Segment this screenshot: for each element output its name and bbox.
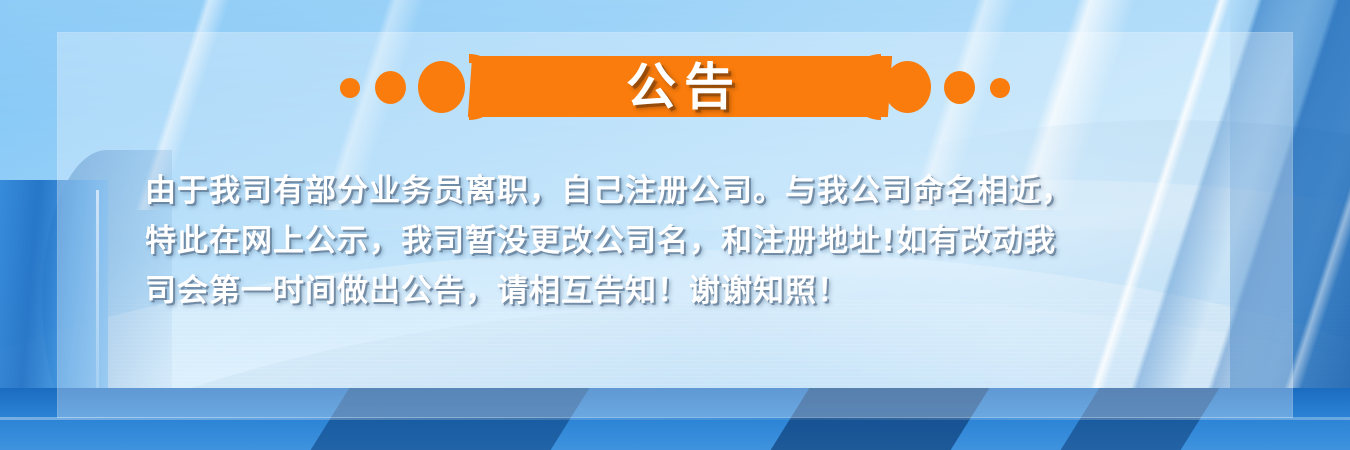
dot-large-left-icon: [418, 61, 465, 113]
announcement-line: 由于我司有部分业务员离职，自己注册公司。与我公司命名相近，: [145, 166, 1225, 216]
banner-title: 公告: [470, 56, 890, 117]
announcement-line: 特此在网上公示，我司暂没更改公司名，和注册地址!如有改动我: [145, 216, 1225, 266]
dot-medium-left-icon: [375, 71, 406, 104]
banner-header: 公告: [0, 56, 1350, 118]
announcement-line: 司会第一时间做出公告，请相互告知！谢谢知照！: [145, 266, 1225, 316]
announcement-banner: 公告 由于我司有部分业务员离职，自己注册公司。与我公司命名相近， 特此在网上公示…: [0, 0, 1350, 450]
dot-small-right-icon: [990, 78, 1010, 98]
announcement-text: 由于我司有部分业务员离职，自己注册公司。与我公司命名相近， 特此在网上公示，我司…: [145, 166, 1225, 316]
dot-large-right-icon: [884, 61, 931, 113]
dot-small-left-icon: [340, 78, 360, 98]
dot-medium-right-icon: [944, 71, 975, 104]
